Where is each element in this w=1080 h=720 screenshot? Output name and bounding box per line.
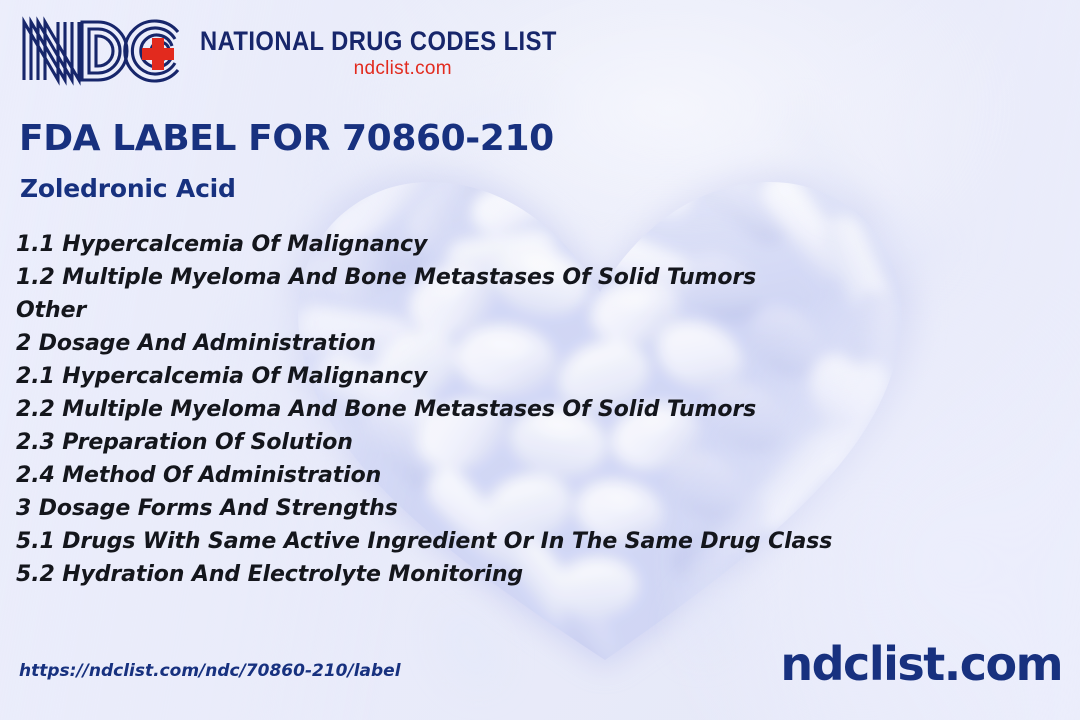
- page-title: FDA LABEL FOR 70860-210: [19, 118, 554, 159]
- logo-wordmark: NATIONAL DRUG CODES LIST ndclist.com: [200, 24, 606, 78]
- list-item: 1.1 Hypercalcemia Of Malignancy: [16, 228, 1016, 261]
- list-item: 2.2 Multiple Myeloma And Bone Metastases…: [16, 393, 1016, 426]
- site-logo-header: NATIONAL DRUG CODES LIST ndclist.com: [18, 14, 606, 88]
- ndc-logo-mark: [18, 14, 190, 88]
- footer-brand-wordmark: ndclist.com: [780, 637, 1062, 691]
- list-item: 2.3 Preparation Of Solution: [16, 426, 1016, 459]
- source-url[interactable]: https://ndclist.com/ndc/70860-210/label: [19, 661, 401, 681]
- list-item: 3 Dosage Forms And Strengths: [16, 492, 1016, 525]
- label-section-list: 1.1 Hypercalcemia Of Malignancy 1.2 Mult…: [16, 228, 1016, 591]
- drug-name-subtitle: Zoledronic Acid: [20, 174, 236, 203]
- list-item: 1.2 Multiple Myeloma And Bone Metastases…: [16, 261, 1016, 294]
- brand-site: ndclist.com: [354, 59, 452, 78]
- brand-name: NATIONAL DRUG CODES LIST: [200, 28, 557, 55]
- list-item: 5.1 Drugs With Same Active Ingredient Or…: [16, 525, 1016, 558]
- list-item: Other: [16, 294, 1016, 327]
- list-item: 2.4 Method Of Administration: [16, 459, 1016, 492]
- list-item: 2 Dosage And Administration: [16, 327, 1016, 360]
- list-item: 2.1 Hypercalcemia Of Malignancy: [16, 360, 1016, 393]
- list-item: 5.2 Hydration And Electrolyte Monitoring: [16, 558, 1016, 591]
- fda-label-card: NATIONAL DRUG CODES LIST ndclist.com FDA…: [0, 0, 1080, 720]
